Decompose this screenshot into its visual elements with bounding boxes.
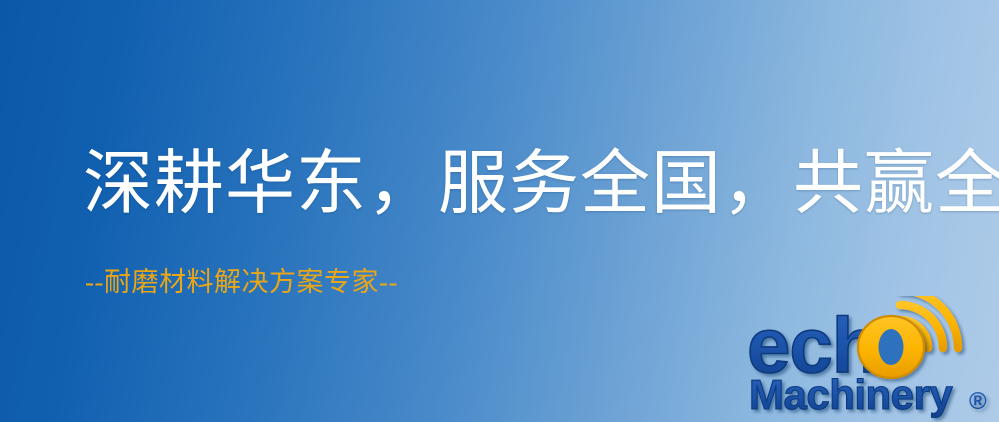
page-subtitle: --耐磨材料解决方案专家-- — [85, 266, 398, 298]
hero-banner: 深耕华东，服务全国，共赢全球 --耐磨材料解决方案专家-- — [0, 0, 999, 422]
logo-tagline: Machinery — [749, 371, 953, 418]
page-title: 深耕华东，服务全国，共赢全球 — [83, 148, 999, 222]
logo-wordmark-o — [858, 316, 924, 378]
echo-machinery-logo[interactable]: ech Machinery ® — [745, 296, 999, 422]
logo-registered-mark: ® — [969, 388, 987, 415]
